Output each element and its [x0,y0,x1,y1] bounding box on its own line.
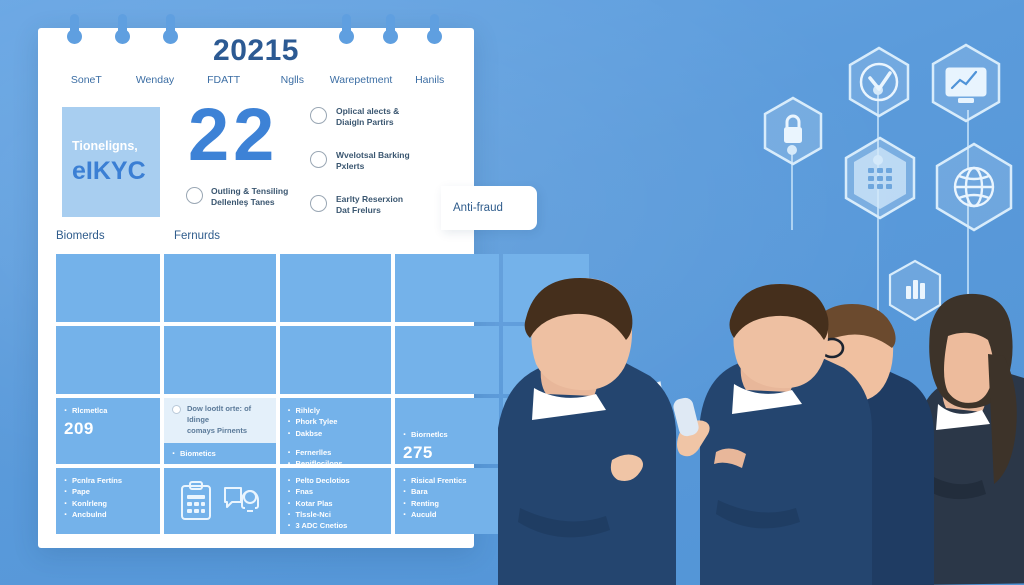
clipboard-form-icon [179,481,213,521]
weekday-label-2: FDATT [189,74,258,86]
big-number: 22 [188,100,278,170]
list-bottom-c-item: Fnas [288,486,384,497]
grid-cell-r1c1[interactable] [56,254,160,322]
list-bottom-c-item: Kotar Plas [288,498,384,509]
hex-badge-verified [845,45,913,119]
section-header-biometrics: Biomerds [56,230,105,242]
metric-c-value: 275 [403,443,491,463]
radio-circle-icon[interactable] [310,151,327,168]
weekday-label-1: Wenday [121,74,190,86]
check-icon [870,73,890,89]
metric-c-bullets: Biornetlcs [403,429,491,440]
radio-option-1[interactable]: Wvelotsal Barking Pxlerts [310,150,410,173]
weekday-label-4: Warepetment [327,74,396,86]
metric-b-bullets: Biometics [172,448,268,459]
grid-cell-r2c3[interactable] [280,326,392,394]
grid-cell-lists[interactable]: Rihlcly Phork Tylee Dakbse Fernerlles Be… [280,398,392,464]
document-page [604,382,672,470]
list-bottom-c-item: 3 ADC Cnetios [288,520,384,531]
radio-circle-icon[interactable] [310,107,327,124]
businessman-back-right [672,284,872,585]
list-bottom-d-item: Bara [403,486,491,497]
list-bottom-left-item: Pcnlra Fertíns [64,475,152,486]
calendar-year: 20215 [38,34,474,68]
hex-badge-keypad [840,135,920,221]
weekday-header-row: SoneT Wenday FDATT Nglls Warepetment Han… [52,74,464,86]
radio-option-left[interactable]: Outling & Tensiling Dellenleş Tanes [186,186,288,209]
metric-b-value: 11/25 [172,462,268,464]
grid-cell-bottom-a[interactable]: Pcnlra Fertíns Pape Konlrleng Ancbulnd [56,468,160,534]
section-header-fernurds: Fernurds [174,230,220,242]
list-mid-2-item: Fernerlles [288,447,384,458]
hex-badge-analytics [928,42,1004,124]
keypad-icon [868,168,892,189]
data-grid: Rlcmetlca 209 Dow lootlt orte: of Idinge… [56,254,589,529]
weekday-label-0: SoneT [52,74,121,86]
list-bottom-e: A Ci [511,475,581,498]
list-mid-1: Rihlcly Phork Tylee Dakbse [288,405,384,439]
radio-option-2-label: Earlty Reserxion Dat Frelurs [336,194,403,217]
support-headset-icon [223,484,261,518]
list-bottom-d-item: Risical Frentics [403,475,491,486]
eyeglasses-icon [797,339,843,357]
trend-line-icon [952,72,976,88]
note-line-1: Dow lootlt orte: of Idinge [187,404,268,426]
list-bottom-left-item: Pape [64,486,152,497]
list-bottom-left-item: Ancbulnd [64,509,152,520]
grid-cell-r2c4[interactable] [395,326,499,394]
grid-cell-r2c2[interactable] [164,326,276,394]
grid-cell-r1c4[interactable] [395,254,499,322]
list-bottom-c-item: Tlssle-Nci [288,509,384,520]
hex-badge-lock [760,95,826,167]
radio-circle-icon[interactable] [186,187,203,204]
grid-cell-r1c2[interactable] [164,254,276,322]
grid-cell-bottom-e[interactable]: A Ci 10 [503,468,589,534]
grid-cell-r2c1[interactable] [56,326,160,394]
globe-icon [955,168,993,206]
list-bottom-d: Risical Frentics Bara Renting Auculd [403,475,491,520]
note-line-2: comays Pirnents [187,426,268,437]
list-bottom-e-item: A [511,475,581,486]
brand-tile: Tioneligns, eIKYC [62,107,160,217]
grid-cell-bottom-c[interactable]: Pelto Declotios Fnas Kotar Plas Tlssle-N… [280,468,392,534]
grid-cell-icons[interactable] [164,468,276,534]
list-bottom-left-item: Konlrleng [64,498,152,509]
radio-option-0-label: Oplical alects & Diaigln Partirs [336,106,399,129]
hex-badge-barchart [885,258,945,324]
grid-cell-metric-c[interactable]: Biornetlcs 275 [395,398,499,464]
brand-tagline: Tioneligns, [72,140,160,154]
radio-option-2[interactable]: Earlty Reserxion Dat Frelurs [310,194,410,217]
list-bottom-left: Pcnlra Fertíns Pape Konlrleng Ancbulnd [64,475,152,520]
grid-cell-note: Dow lootlt orte: of Idinge comays Pirnen… [164,398,276,443]
grid-cell-bottom-d[interactable]: Risical Frentics Bara Renting Auculd [395,468,499,534]
section-header-row: Biomerds Fernurds [38,218,474,254]
grid-cell-r1c5[interactable] [503,254,589,322]
radio-option-0[interactable]: Oplical alects & Diaigln Partirs [310,106,410,129]
metric-c-bullet: Biornetlcs [403,429,491,440]
weekday-label-3: Nglls [258,74,327,86]
grid-cell-r3c5[interactable] [503,398,589,464]
businessman-glasses [784,304,934,585]
grid-cell-metric-a[interactable]: Rlcmetlca 209 [56,398,160,464]
list-bottom-c-item: Pelto Declotios [288,475,384,486]
grid-cell-metric-b[interactable]: Dow lootlt orte: of Idinge comays Pirnen… [164,398,276,464]
list-bottom-e-item: Ci [511,486,581,497]
illustration-canvas: 20215 SoneT Wenday FDATT Nglls Warepetme… [0,0,1024,585]
lock-icon [784,116,802,143]
list-mid-1-item: Rihlcly [288,405,384,416]
metric-a-bullet: Rlcmetlca [64,405,152,416]
metric-a-value: 209 [64,419,152,439]
radio-option-group: Oplical alects & Diaigln Partirs Wvelots… [310,106,410,217]
list-bottom-d-item: Renting [403,498,491,509]
list-bottom-d-item: Auculd [403,509,491,520]
list-mid-1-item: Phork Tylee [288,416,384,427]
note-circle-icon [172,405,181,414]
list-mid-2: Fernerlles Beniflocilons Pxlilae [288,447,384,464]
grid-cell-r1c3[interactable] [280,254,392,322]
grid-cell-r2c5[interactable] [503,326,589,394]
list-bottom-c: Pelto Declotios Fnas Kotar Plas Tlssle-N… [288,475,384,531]
calendar-card: 20215 SoneT Wenday FDATT Nglls Warepetme… [38,28,474,548]
weekday-label-5: Hanils [395,74,464,86]
metric-b-bullet: Biometics [172,448,268,459]
radio-option-1-label: Wvelotsal Barking Pxlerts [336,150,410,173]
list-mid-2-item: Beniflocilons [288,458,384,464]
list-bottom-e-value: 10 [511,501,581,521]
radio-option-left-label: Outling & Tensiling Dellenleş Tanes [211,186,288,209]
radio-circle-icon[interactable] [310,195,327,212]
hex-badge-globe [930,140,1018,234]
businesswoman [884,294,1024,585]
anti-fraud-tab-label: Anti-fraud [453,202,503,214]
anti-fraud-tab[interactable]: Anti-fraud [441,186,537,230]
bar-chart-icon [906,280,925,299]
list-mid-1-item: Dakbse [288,428,384,439]
brand-name: eIKYC [72,158,160,184]
metric-a-bullets: Rlcmetlca [64,405,152,416]
